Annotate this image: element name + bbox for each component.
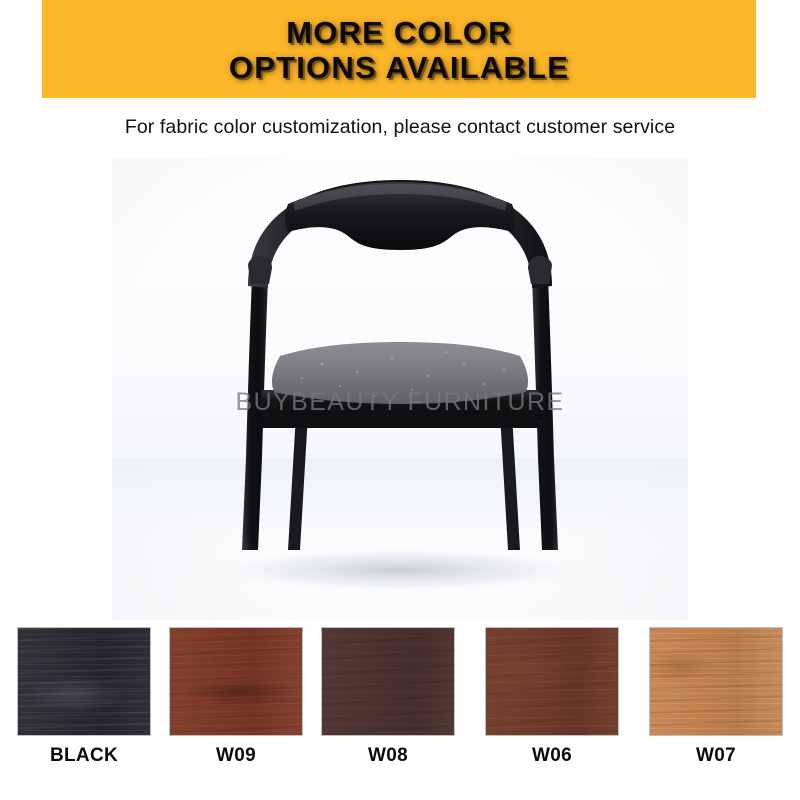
promo-banner: MORE COLOR OPTIONS AVAILABLE [42, 0, 756, 98]
swatch-w09-label: W09 [170, 745, 302, 767]
swatch-w08-chip[interactable] [322, 628, 454, 735]
banner-headline-line-2: OPTIONS AVAILABLE [229, 52, 569, 84]
swatch-w06-grain [486, 628, 618, 735]
photo-vignette [112, 158, 688, 620]
swatch-w06-label: W06 [486, 745, 618, 767]
swatch-black-chip[interactable] [18, 628, 150, 735]
swatch-w07-chip[interactable] [650, 628, 782, 735]
swatch-black[interactable]: BLACK [18, 628, 150, 767]
swatch-w09[interactable]: W09 [170, 628, 302, 767]
swatch-w08-label: W08 [322, 745, 454, 767]
product-photo [112, 158, 688, 620]
customization-note: For fabric color customization, please c… [0, 116, 800, 139]
banner-headline-line-1: MORE COLOR [286, 17, 512, 49]
swatch-black-label: BLACK [18, 745, 150, 767]
swatch-w08-grain [322, 628, 454, 735]
swatch-w07[interactable]: W07 [650, 628, 782, 767]
swatch-w09-chip[interactable] [170, 628, 302, 735]
swatch-w09-grain [170, 628, 302, 735]
swatch-black-grain [18, 628, 150, 735]
swatch-w08[interactable]: W08 [322, 628, 454, 767]
color-swatch-row: BLACK W09 W08 W06 W07 [0, 628, 800, 778]
swatch-w07-grain [650, 628, 782, 735]
swatch-w06[interactable]: W06 [486, 628, 618, 767]
swatch-w06-chip[interactable] [486, 628, 618, 735]
swatch-w07-label: W07 [650, 745, 782, 767]
